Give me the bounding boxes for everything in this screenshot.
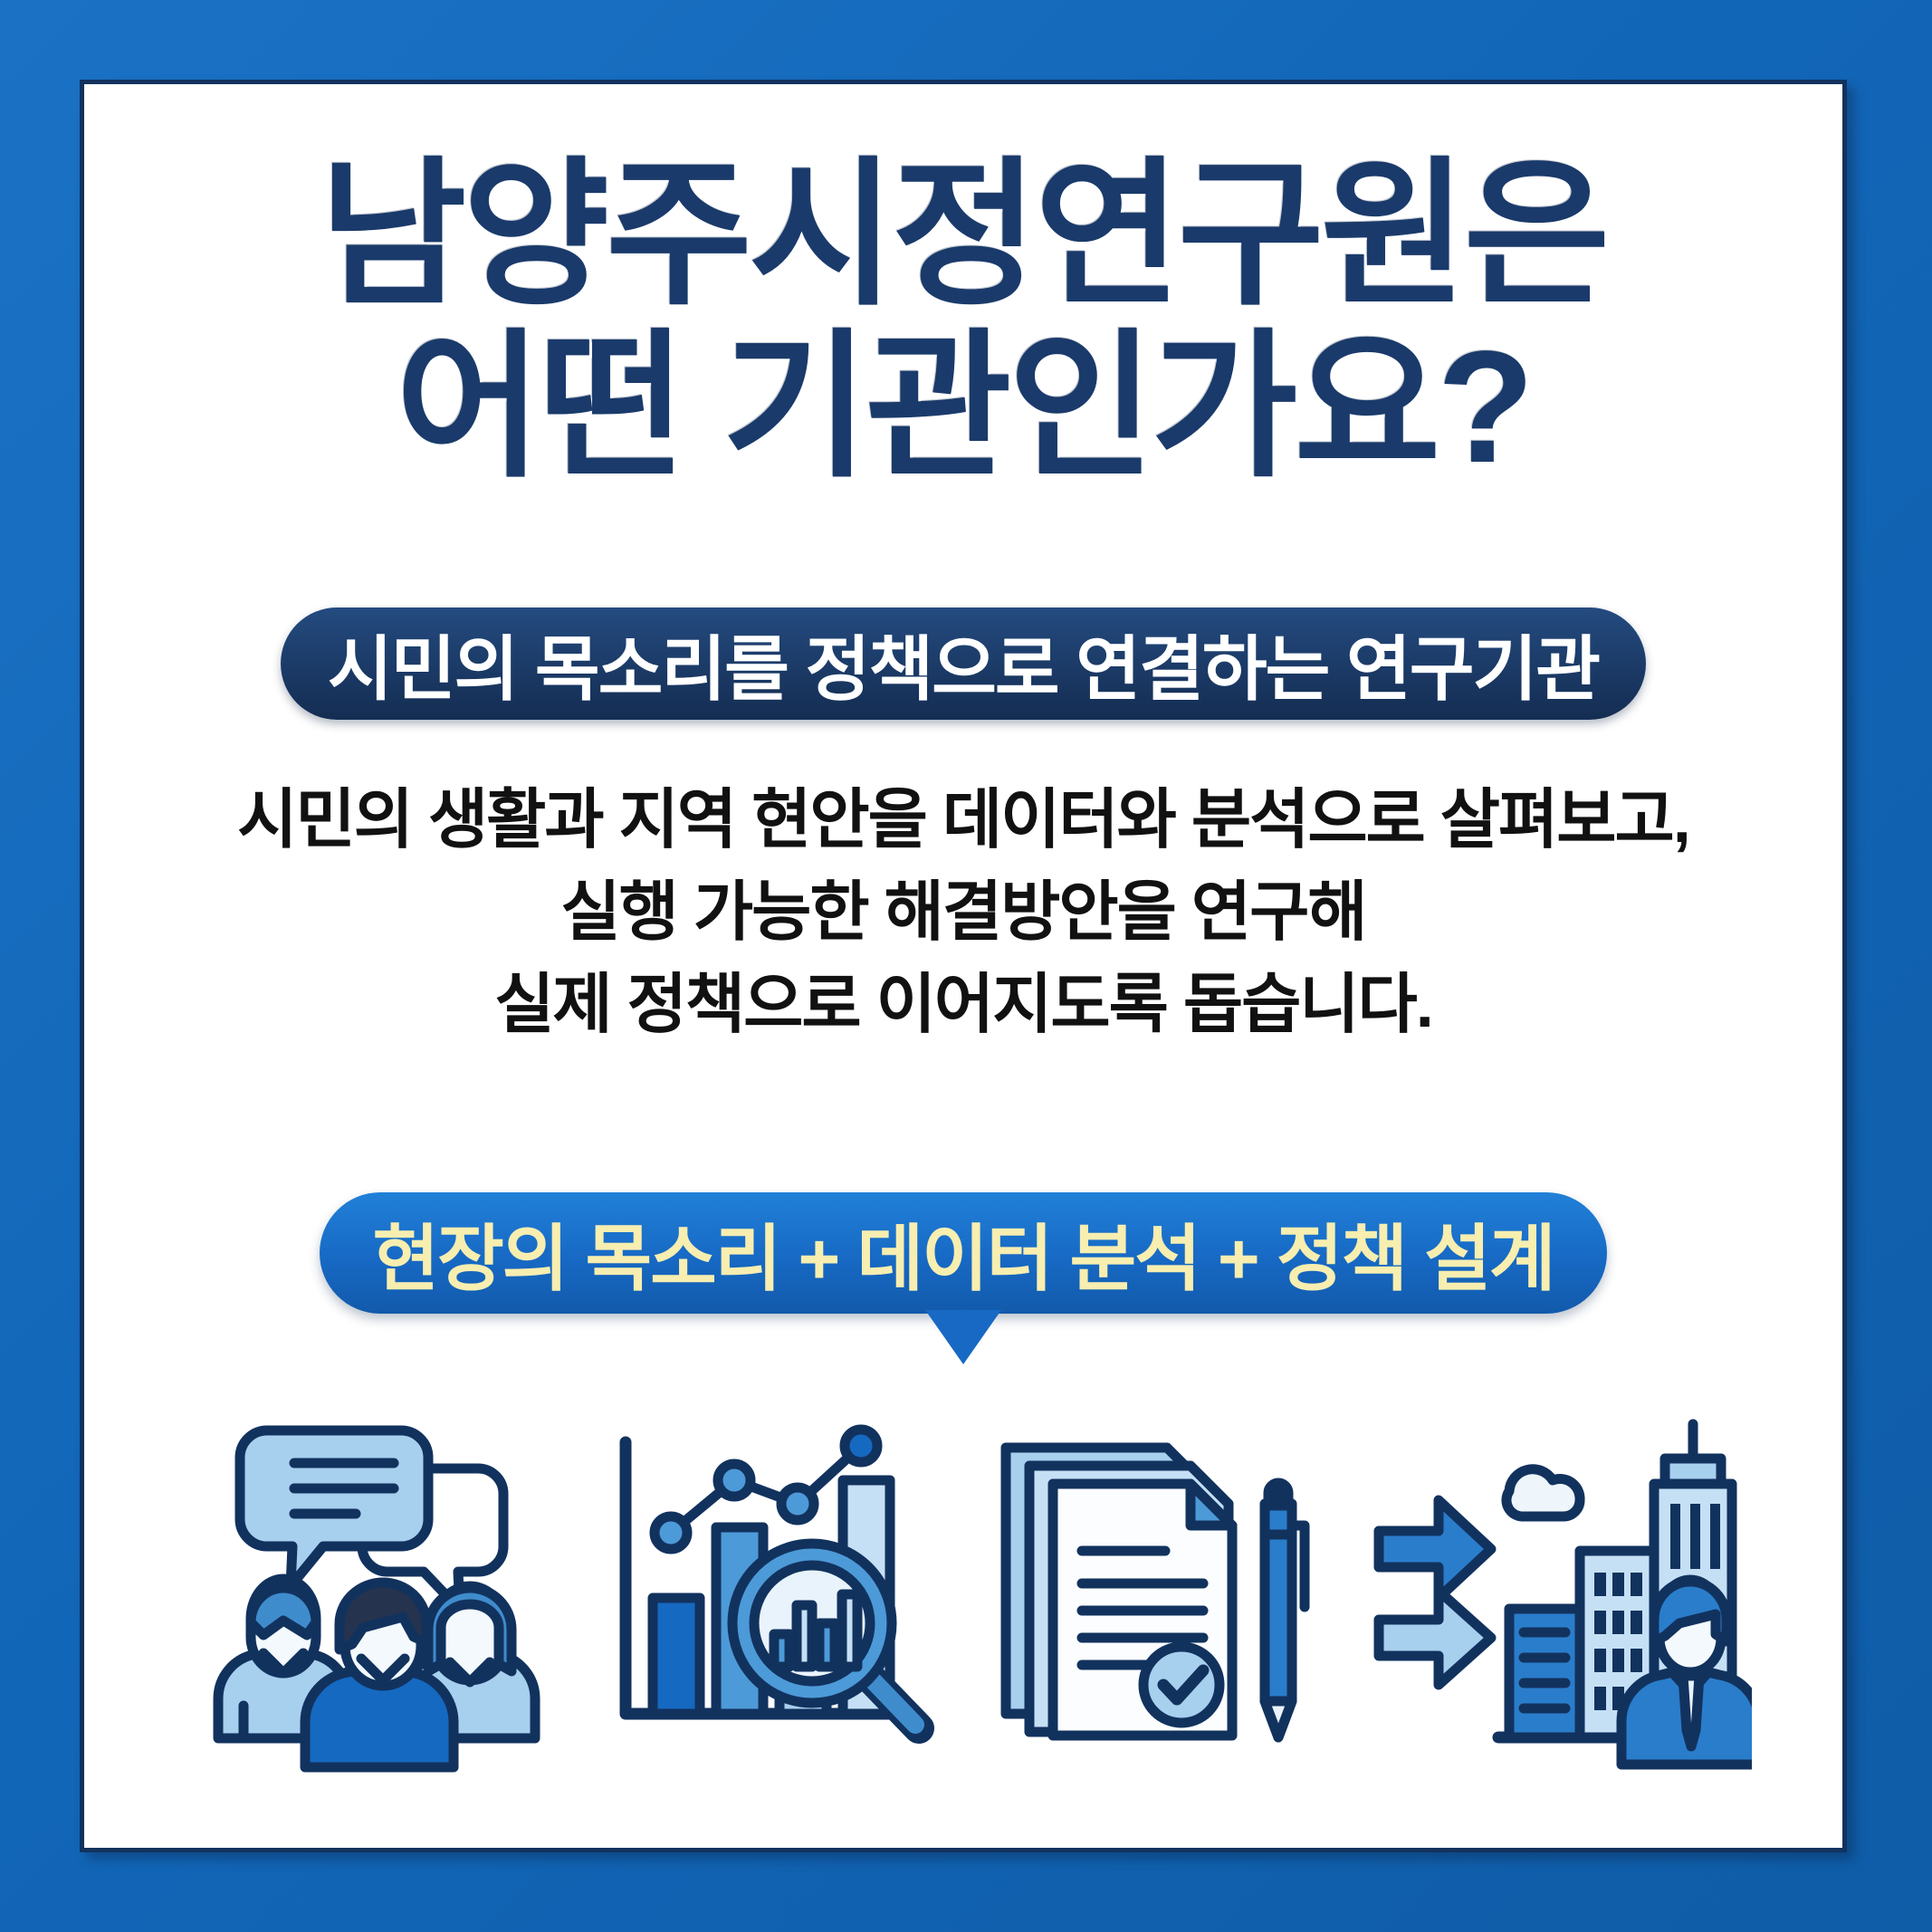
highlight-banner-label: 현장의 목소리 + 데이터 분석 + 정책 설계 [372,1200,1554,1306]
icon-cell-4 [1367,1403,1756,1784]
highlight-banner-container: 현장의 목소리 + 데이터 분석 + 정책 설계 [84,1192,1842,1314]
bar-chart-magnifier-icon [588,1417,941,1770]
page-title: 남양주시정연구원은 어떤 기관인가요? [84,149,1842,493]
citizens-speech-bubbles-icon [184,1412,546,1774]
speech-bubble-tail-icon [925,1310,1001,1364]
body-paragraph: 시민의 생활과 지역 현안을 데이터와 분석으로 살펴보고, 실행 가능한 해결… [84,774,1842,1052]
icon-cell-2 [569,1403,959,1784]
documents-pen-check-icon [986,1417,1339,1770]
white-content-card: 남양주시정연구원은 어떤 기관인가요? 시민의 목소리를 정책으로 연결하는 연… [80,80,1847,1852]
subtitle-pill-container: 시민의 목소리를 정책으로 연결하는 연구기관 [84,607,1842,720]
poster-card: 남양주시정연구원은 어떤 기관인가요? 시민의 목소리를 정책으로 연결하는 연… [0,0,1932,1932]
title-line-1: 남양주시정연구원은 [84,149,1842,321]
title-line-2: 어떤 기관인가요? [84,321,1842,493]
body-line-2: 실행 가능한 해결방안을 연구해 [84,866,1842,959]
icon-cell-1 [170,1403,560,1784]
icon-cell-3 [968,1403,1357,1784]
highlight-banner: 현장의 목소리 + 데이터 분석 + 정책 설계 [320,1192,1606,1314]
body-line-1: 시민의 생활과 지역 현안을 데이터와 분석으로 살펴보고, [84,774,1842,866]
body-line-3: 실제 정책으로 이어지도록 돕습니다. [84,959,1842,1051]
arrows-city-official-icon [1372,1417,1752,1770]
icon-row [166,1399,1761,1788]
subtitle-pill: 시민의 목소리를 정책으로 연결하는 연구기관 [281,607,1646,720]
